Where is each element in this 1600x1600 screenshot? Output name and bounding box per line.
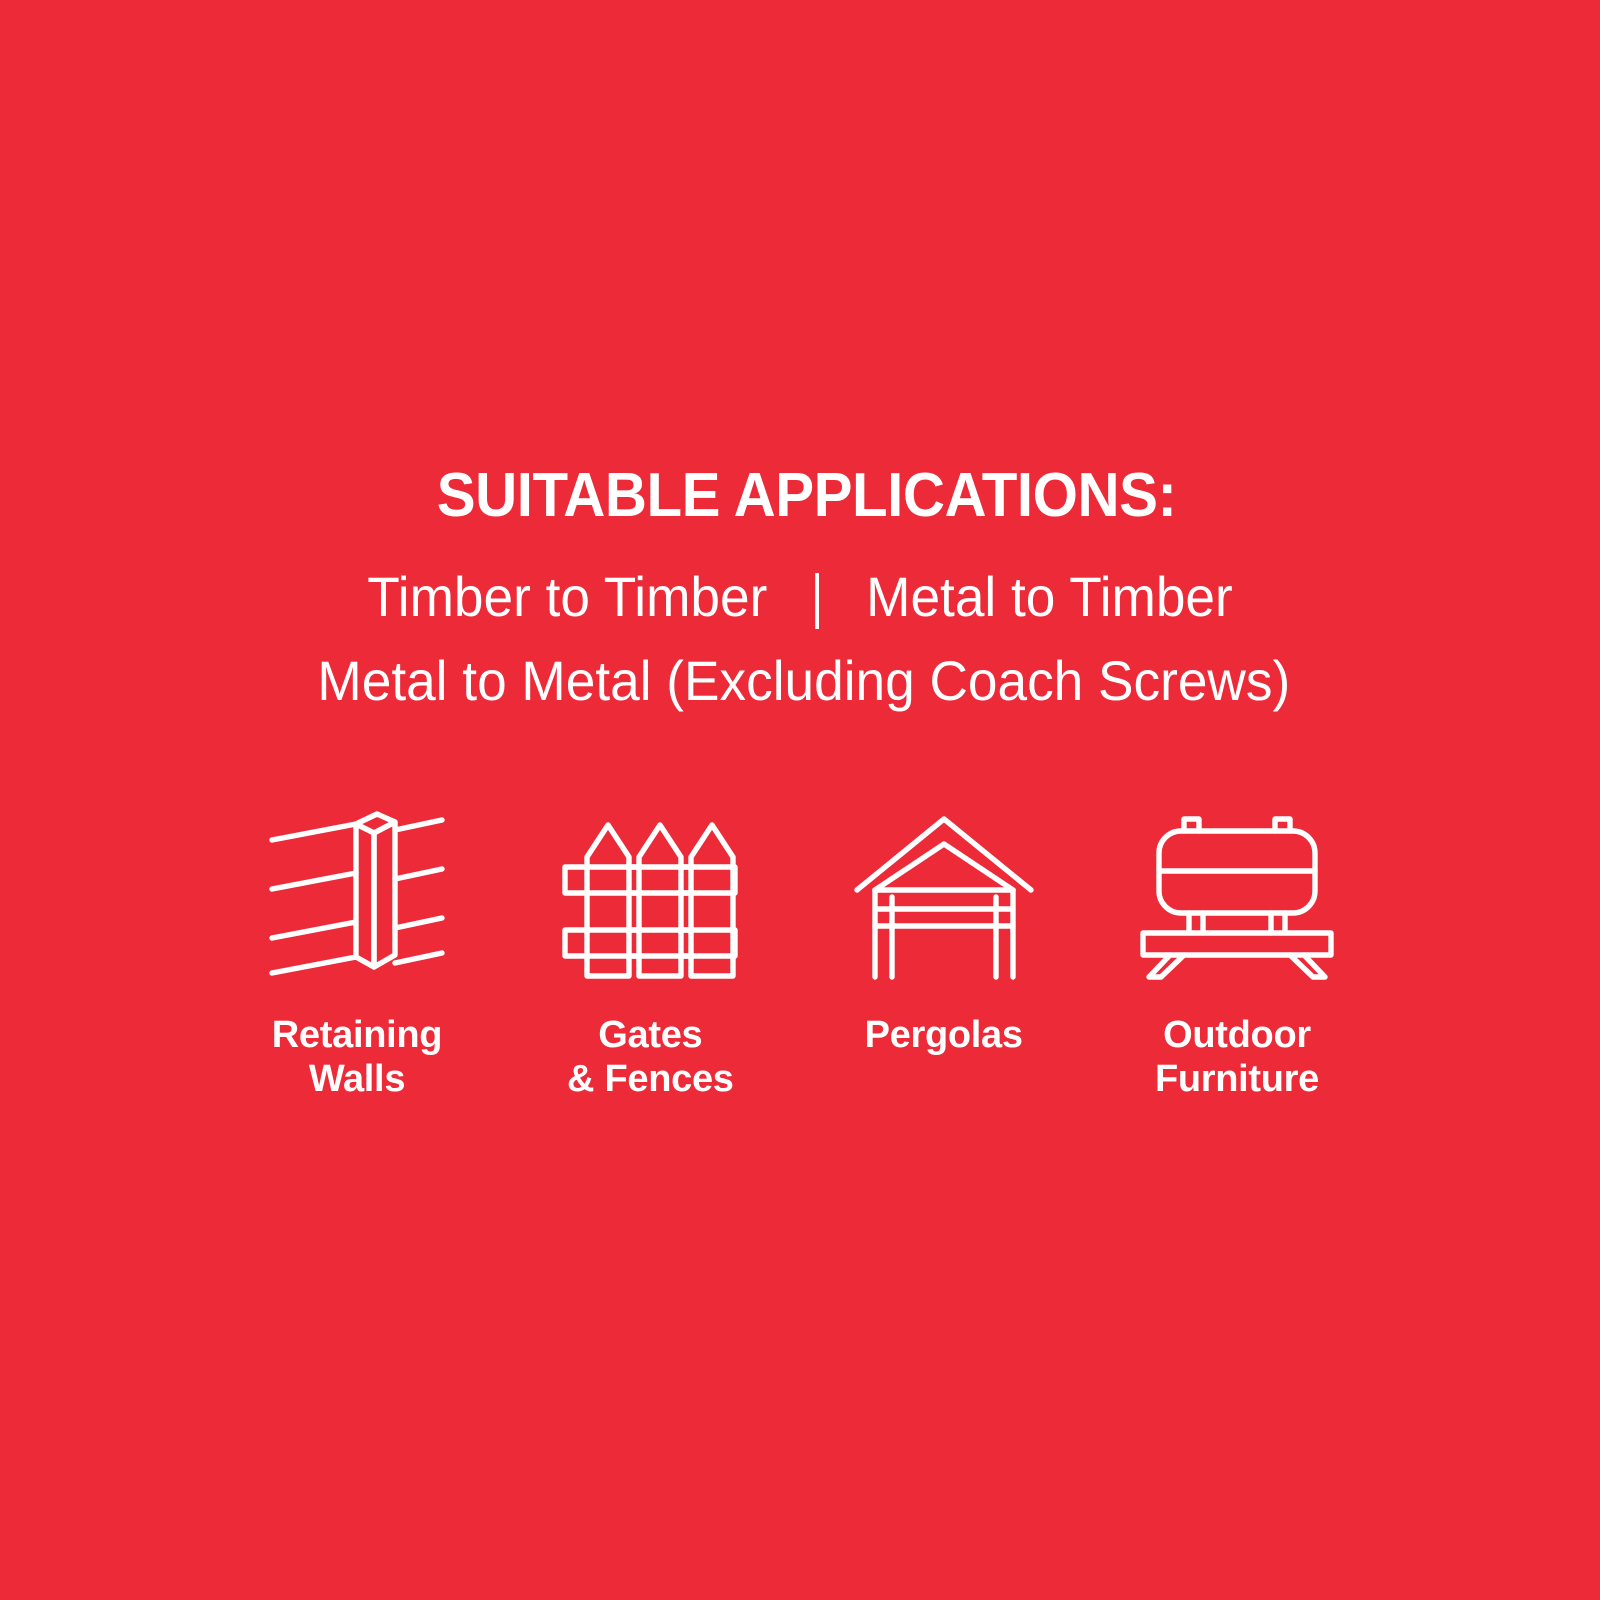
poster-canvas: SUITABLE APPLICATIONS: Timber to Timber …	[0, 0, 1600, 1600]
application-icon-row: Retaining Walls	[232, 800, 1362, 1101]
application-item-gates-fences: Gates & Fences	[525, 800, 775, 1101]
headings: SUITABLE APPLICATIONS: Timber to Timber …	[0, 462, 1600, 712]
applications-line-1: Timber to Timber Metal to Timber	[40, 566, 1560, 628]
pergola-icon	[849, 800, 1039, 985]
icon-label: Gates & Fences	[567, 1013, 734, 1101]
application-item-pergolas: Pergolas	[819, 800, 1069, 1057]
application-item-retaining-walls: Retaining Walls	[232, 800, 482, 1101]
page-title: SUITABLE APPLICATIONS:	[48, 462, 1552, 530]
icon-label: Pergolas	[865, 1013, 1023, 1057]
application-timber-to-timber: Timber to Timber	[367, 566, 767, 628]
application-item-outdoor-furniture: Outdoor Furniture	[1112, 800, 1362, 1101]
application-metal-to-metal: Metal to Metal (Excluding Coach Screws)	[40, 650, 1560, 712]
vertical-divider	[815, 573, 819, 629]
icon-label: Retaining Walls	[272, 1013, 442, 1101]
picket-fence-icon	[555, 800, 745, 985]
garden-bench-icon	[1137, 800, 1337, 985]
icon-label: Outdoor Furniture	[1155, 1013, 1319, 1101]
retaining-wall-icon	[264, 800, 450, 985]
application-metal-to-timber: Metal to Timber	[866, 566, 1233, 628]
